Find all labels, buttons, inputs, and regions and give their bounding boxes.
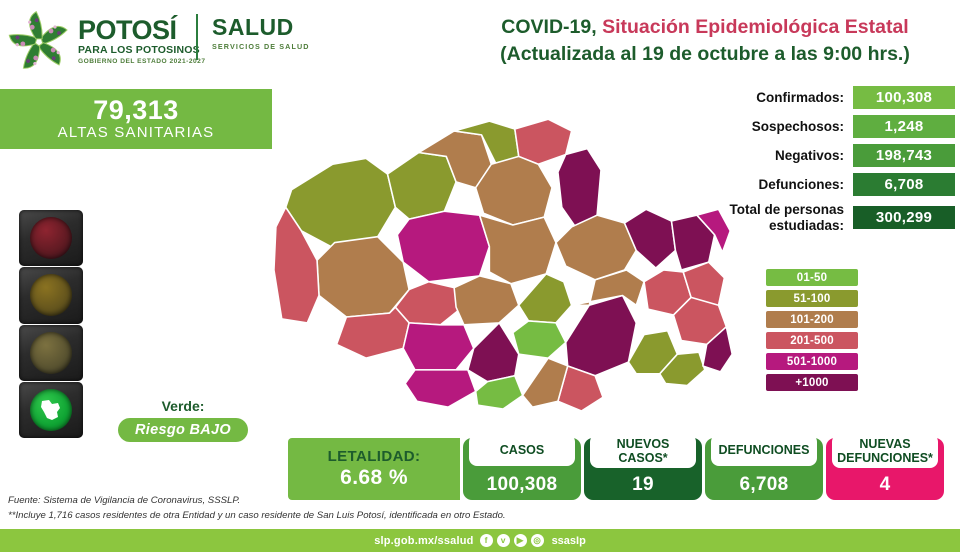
stat-label: Total de personas estudiadas: [700, 202, 853, 233]
map-region[interactable] [558, 149, 601, 227]
metric-label: NUEVOS CASOS* [590, 434, 696, 468]
map-region[interactable] [405, 370, 476, 407]
legend-item: +1000 [766, 374, 858, 391]
stat-row: Sospechosos:1,248 [700, 115, 955, 138]
legend-item: 51-100 [766, 290, 858, 307]
potosi-emblem-icon [8, 11, 70, 73]
brand-tagline: PARA LOS POTOSINOS [78, 44, 206, 58]
map-region[interactable] [476, 376, 523, 409]
stat-row: Defunciones:6,708 [700, 173, 955, 196]
risk-level-block: Verde: Riesgo BAJO [118, 398, 248, 442]
stat-value: 100,308 [853, 86, 955, 109]
legend-item: 501-1000 [766, 353, 858, 370]
legend-item: 101-200 [766, 311, 858, 328]
map-region[interactable] [317, 237, 409, 317]
stat-label: Sospechosos: [700, 119, 853, 135]
metric-card: NUEVOS CASOS*19 [584, 438, 702, 500]
amber2-lamp-icon [30, 332, 72, 374]
instagram-icon[interactable]: ◎ [531, 534, 544, 547]
map-region[interactable] [625, 209, 676, 268]
title-line-1: COVID-19, Situación Epidemiológica Estat… [455, 14, 955, 41]
source-line-2: **Incluye 1,716 casos residentes de otra… [8, 509, 708, 524]
risk-traffic-light [19, 210, 83, 438]
brand-divider [196, 14, 198, 60]
footer-bar: slp.gob.mx/ssalud fᴠ▶◎ ssasIp [0, 529, 960, 552]
map-region[interactable] [480, 215, 556, 284]
traffic-light-housing-green [19, 382, 83, 438]
metric-card: CASOS100,308 [463, 438, 581, 500]
stat-value: 198,743 [853, 144, 955, 167]
traffic-light-housing-amber [19, 267, 83, 323]
map-region[interactable] [468, 323, 519, 382]
map-region[interactable] [566, 295, 637, 375]
metric-label: NUEVAS DEFUNCIONES* [832, 434, 938, 468]
title-updated-label: (Actualizada al 19 de octubre a las 9:00… [455, 41, 955, 68]
amber-lamp-icon [30, 274, 72, 316]
traffic-light-housing-red [19, 210, 83, 266]
map-region-group [274, 119, 732, 411]
youtube-icon[interactable]: ▶ [514, 534, 527, 547]
brand-wordmark: POTOSÍ PARA LOS POTOSINOS GOBIERNO DEL E… [78, 17, 206, 68]
title-situation-label: Situación Epidemiológica Estatal [602, 16, 909, 38]
footer-website-link[interactable]: slp.gob.mx/ssalud [374, 535, 473, 547]
letalidad-card: LETALIDAD: 6.68 % [288, 438, 460, 500]
stat-label: Negativos: [700, 148, 853, 164]
map-region[interactable] [556, 215, 636, 280]
altas-sanitarias-label: ALTAS SANITARIAS [0, 124, 272, 142]
stat-row: Confirmados:100,308 [700, 86, 955, 109]
altas-sanitarias-card: 79,313 ALTAS SANITARIAS [0, 89, 272, 149]
metric-card: DEFUNCIONES6,708 [705, 438, 823, 500]
twitter-icon[interactable]: ᴠ [497, 534, 510, 547]
metric-label: DEFUNCIONES [711, 434, 817, 466]
map-region[interactable] [388, 153, 457, 220]
salud-subtitle: SERVICIOS DE SALUD [212, 42, 310, 51]
stat-label: Confirmados: [700, 90, 853, 106]
metric-card: NUEVAS DEFUNCIONES*4 [826, 438, 944, 500]
traffic-light-housing-amber2 [19, 325, 83, 381]
letalidad-value: 6.68 % [340, 466, 408, 490]
letalidad-label: LETALIDAD: [328, 448, 421, 465]
social-icon-group: fᴠ▶◎ [480, 534, 544, 547]
stat-value: 300,299 [853, 206, 955, 229]
statistics-panel: Confirmados:100,308Sospechosos:1,248Nega… [700, 86, 955, 239]
risk-level-badge: Riesgo BAJO [118, 418, 248, 442]
facebook-icon[interactable]: f [480, 534, 493, 547]
brand-government: GOBIERNO DEL ESTADO 2021-2027 [78, 57, 206, 67]
map-region[interactable] [513, 321, 566, 358]
metric-value: 100,308 [487, 474, 558, 496]
risk-color-label: Verde: [118, 398, 248, 414]
stat-row: Total de personas estudiadas:300,299 [700, 202, 955, 233]
brand-potosi-text: POTOSÍ [78, 17, 206, 44]
altas-sanitarias-value: 79,313 [0, 96, 272, 124]
metric-value: 6,708 [739, 474, 788, 496]
legend-item: 201-500 [766, 332, 858, 349]
metric-value: 19 [632, 474, 654, 496]
stat-value: 1,248 [853, 115, 955, 138]
legend-item: 01-50 [766, 269, 858, 286]
title-covid-label: COVID-19, [501, 16, 596, 38]
salud-text: SALUD [212, 16, 310, 39]
red-lamp-icon [30, 217, 72, 259]
footer-social-handle: ssasIp [552, 535, 586, 547]
map-region[interactable] [454, 276, 519, 325]
stat-row: Negativos:198,743 [700, 144, 955, 167]
source-line-1: Fuente: Sistema de Vigilancia de Coronav… [8, 494, 708, 509]
salud-logo: SALUD SERVICIOS DE SALUD [212, 16, 310, 51]
map-region[interactable] [403, 323, 474, 370]
source-notes: Fuente: Sistema de Vigilancia de Coronav… [8, 494, 708, 524]
state-silhouette-icon [38, 398, 64, 422]
stat-value: 6,708 [853, 173, 955, 196]
municipality-choropleth-map [272, 110, 742, 430]
map-region[interactable] [397, 211, 489, 282]
green-lamp-icon [30, 389, 72, 431]
map-legend: 01-5051-100101-200201-500501-1000+1000 [766, 269, 858, 395]
map-svg [272, 110, 742, 430]
map-region[interactable] [519, 274, 572, 323]
metric-value: 4 [880, 474, 891, 496]
page-title: COVID-19, Situación Epidemiológica Estat… [455, 14, 955, 68]
metric-label: CASOS [469, 434, 575, 466]
summary-metrics-bar: LETALIDAD: 6.68 % CASOS100,308NUEVOS CAS… [288, 438, 944, 500]
stat-label: Defunciones: [700, 177, 853, 193]
